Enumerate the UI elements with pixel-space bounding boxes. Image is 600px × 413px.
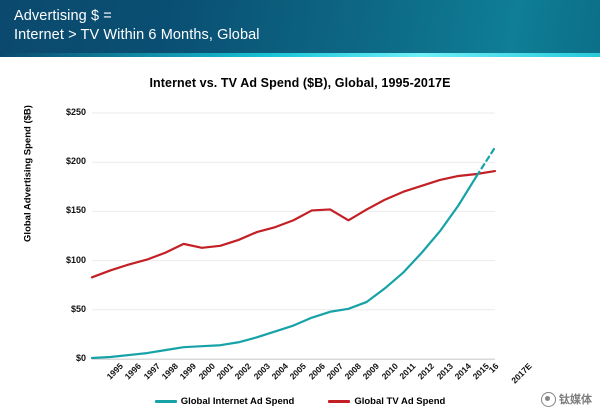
- legend-color-swatch: [328, 400, 350, 403]
- y-axis-tick-label: $150: [40, 205, 86, 215]
- chart-legend: Global Internet Ad SpendGlobal TV Ad Spe…: [0, 396, 600, 407]
- x-axis-ticks: 1995199619971998199920002001200220032004…: [92, 361, 495, 401]
- x-axis-tick-label: 2007: [324, 361, 344, 381]
- x-axis-tick-label: 16: [486, 361, 500, 375]
- watermark: 钛媒体: [541, 391, 592, 407]
- watermark-logo-icon: [541, 392, 556, 407]
- x-axis-tick-label: 2011: [397, 361, 417, 381]
- legend-label: Global TV Ad Spend: [354, 396, 445, 407]
- x-axis-tick-label: 2006: [306, 361, 326, 381]
- y-axis-tick-label: $50: [40, 304, 86, 314]
- x-axis-tick-label: 1997: [141, 361, 161, 381]
- plot-area: [92, 113, 495, 359]
- legend-item[interactable]: Global Internet Ad Spend: [155, 396, 295, 407]
- x-axis-tick-label: 1995: [105, 361, 125, 381]
- chart-lines: [92, 113, 495, 359]
- x-axis-tick-label: 2001: [214, 361, 234, 381]
- x-axis-tick-label: 2013: [434, 361, 454, 381]
- x-axis-tick-label: 1996: [123, 361, 143, 381]
- legend-item[interactable]: Global TV Ad Spend: [328, 396, 445, 407]
- x-axis-tick-label: 1998: [159, 361, 179, 381]
- y-axis-tick-label: $0: [40, 353, 86, 363]
- x-axis-tick-label: 2002: [233, 361, 253, 381]
- x-axis-tick-label: 2005: [288, 361, 308, 381]
- x-axis-tick-label: 2009: [361, 361, 381, 381]
- x-axis-tick-label: 1999: [178, 361, 198, 381]
- x-axis-tick-label: 2017E: [509, 361, 533, 385]
- legend-color-swatch: [155, 400, 177, 403]
- x-axis-line: [92, 359, 495, 360]
- y-axis-tick-label: $200: [40, 156, 86, 166]
- legend-label: Global Internet Ad Spend: [181, 396, 295, 407]
- chart-figure: Global Advertising Spend ($B) $250$200$1…: [0, 0, 600, 413]
- y-axis-ticks: $250$200$150$100$50$0: [36, 113, 86, 359]
- x-axis-tick-label: 2008: [343, 361, 363, 381]
- x-axis-tick-label: 2004: [269, 361, 289, 381]
- series-line-global-tv-ad-spend: [92, 171, 495, 277]
- y-axis-tick-label: $250: [40, 107, 86, 117]
- x-axis-tick-label: 2003: [251, 361, 271, 381]
- y-axis-label: Global Advertising Spend ($B): [23, 84, 34, 264]
- series-line-global-internet-ad-spend: [92, 176, 477, 358]
- x-axis-tick-label: 2000: [196, 361, 216, 381]
- y-axis-tick-label: $100: [40, 255, 86, 265]
- watermark-text: 钛媒体: [559, 391, 592, 407]
- x-axis-tick-label: 2015: [471, 361, 491, 381]
- x-axis-tick-label: 2014: [453, 361, 473, 381]
- x-axis-tick-label: 2010: [379, 361, 399, 381]
- x-axis-tick-label: 2012: [416, 361, 436, 381]
